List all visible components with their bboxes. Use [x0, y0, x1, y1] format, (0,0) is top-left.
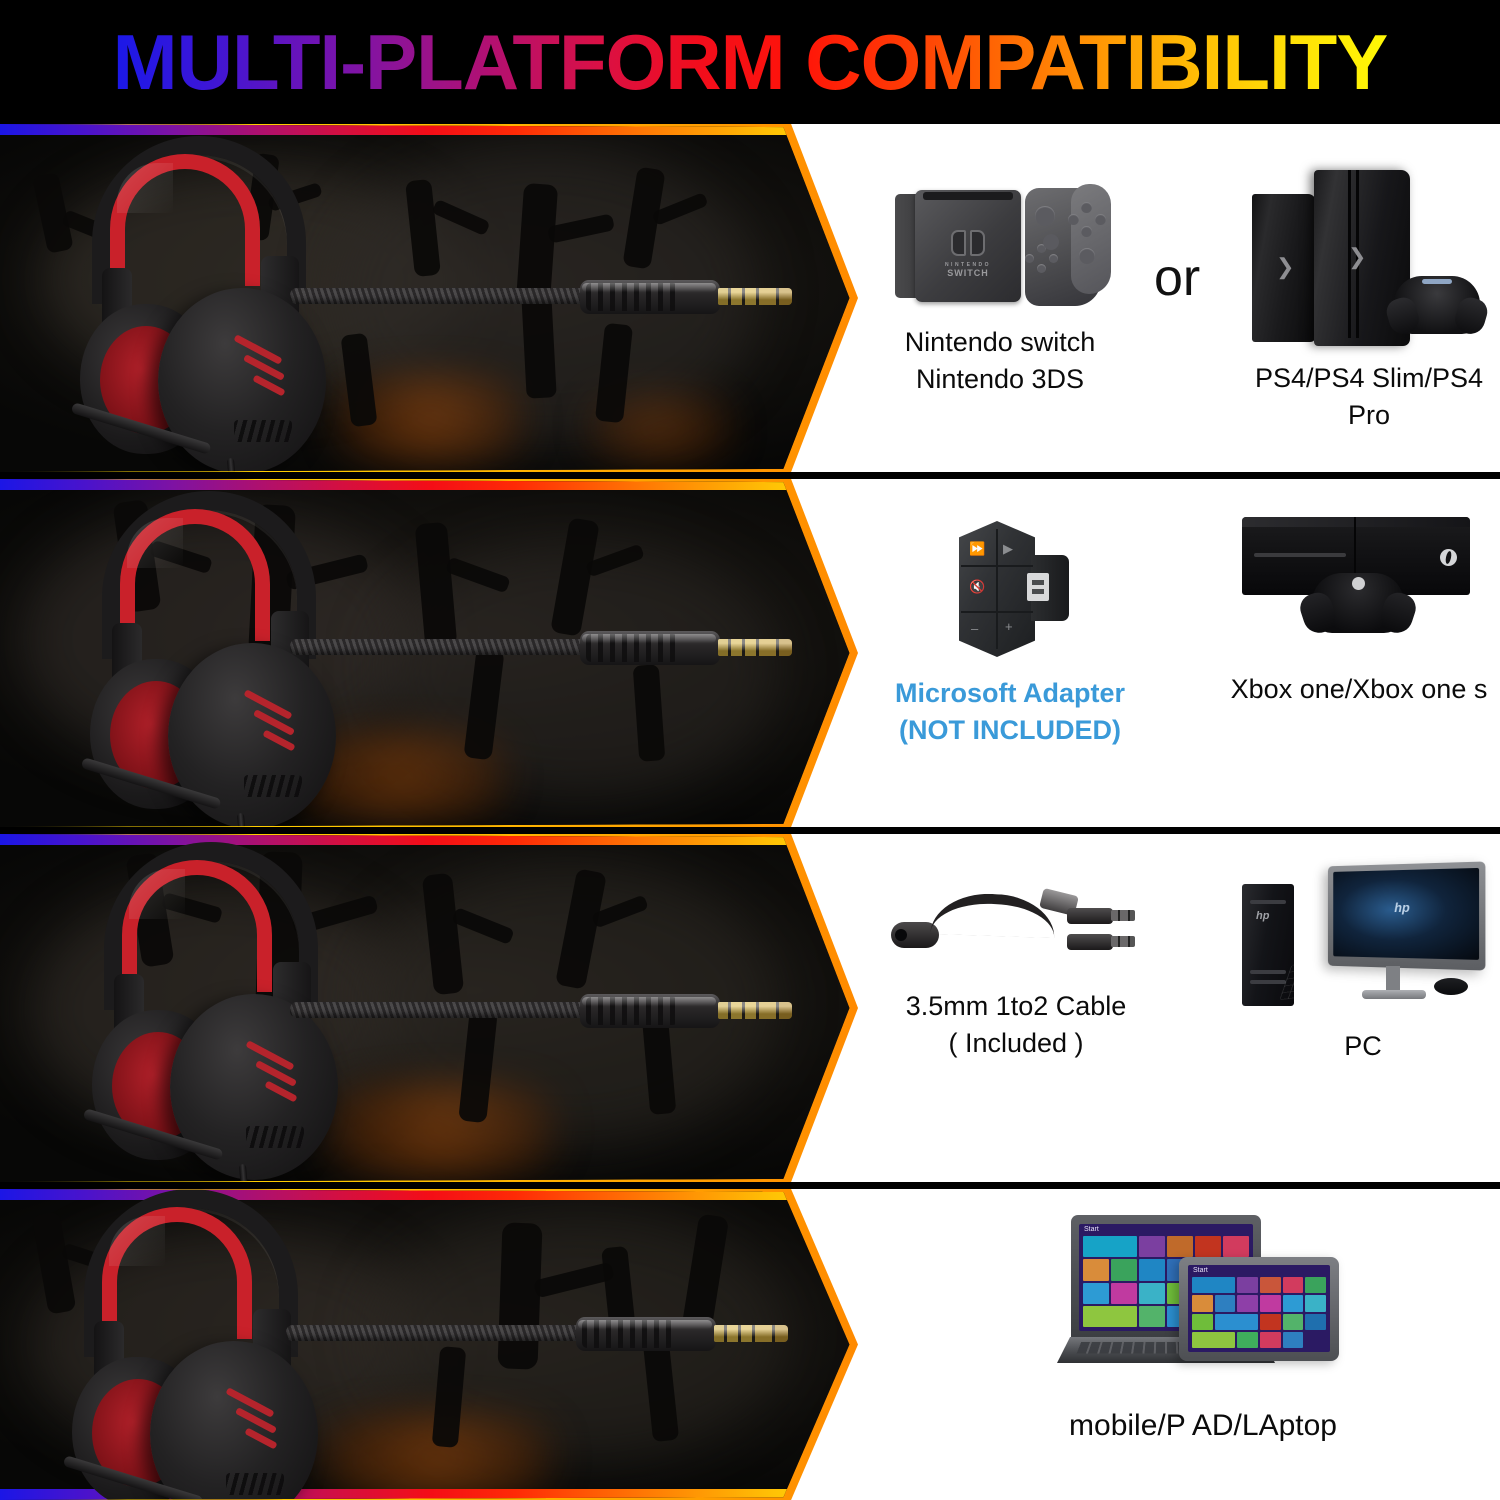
title-banner: MULTI-PLATFORM COMPATIBILITY	[0, 0, 1500, 124]
xbox-one-icon	[1234, 501, 1484, 651]
pc-desktop-icon: hp	[1238, 850, 1488, 1016]
page-title: MULTI-PLATFORM COMPATIBILITY	[113, 17, 1388, 108]
device-nintendo-switch: NINTENDOSWITCH Nintendo switch Nintendo	[878, 186, 1122, 399]
hero-arrow-panel	[0, 1189, 858, 1500]
compatibility-row-xbox: ⏩ ▶ 🔇 – + Microsoft Adapter (NOT INCLUDE…	[0, 479, 1500, 827]
device-pc: hp PC	[1228, 850, 1498, 1065]
device-microsoft-adapter: ⏩ ▶ 🔇 – + Microsoft Adapter (NOT INCLUDE…	[878, 515, 1142, 750]
connector-or-label: or	[1154, 248, 1200, 308]
hero-arrow-panel	[0, 479, 858, 827]
device-label: Xbox one/Xbox one s	[1218, 671, 1500, 708]
device-list-row-3: 3.5mm 1to2 Cable ( Included ) hp PC	[858, 834, 1500, 1182]
row-divider	[0, 827, 1500, 834]
device-xbox-one: Xbox one/Xbox one s	[1218, 501, 1500, 708]
device-mobile-pad-laptop: Start	[988, 1209, 1418, 1446]
infographic-page: MULTI-PLATFORM COMPATIBILITY	[0, 0, 1500, 1500]
device-label: PC	[1228, 1028, 1498, 1065]
hero-arrow-panel	[0, 124, 858, 472]
device-list-row-1: NINTENDOSWITCH Nintendo switch Nintendo	[858, 124, 1500, 472]
device-splitter-cable: 3.5mm 1to2 Cable ( Included )	[882, 878, 1150, 1063]
device-list-row-4: Start	[858, 1189, 1500, 1500]
switch-wordmark: SWITCH	[947, 268, 989, 278]
microsoft-adapter-icon: ⏩ ▶ 🔇 – +	[935, 515, 1085, 665]
device-list-row-2: ⏩ ▶ 🔇 – + Microsoft Adapter (NOT INCLUDE…	[858, 479, 1500, 827]
device-label: Microsoft Adapter (NOT INCLUDED)	[878, 675, 1142, 750]
rainbow-divider-strip	[0, 479, 858, 490]
device-label: 3.5mm 1to2 Cable ( Included )	[882, 988, 1150, 1063]
device-label: mobile/P AD/LAptop	[988, 1405, 1418, 1446]
compatibility-row-mobile: Start	[0, 1189, 1500, 1500]
rainbow-divider-strip	[0, 124, 858, 135]
compatibility-row-pc: 3.5mm 1to2 Cable ( Included ) hp PC	[0, 834, 1500, 1182]
hero-arrow-panel	[0, 834, 858, 1182]
compatibility-row-nintendo-ps4: NINTENDOSWITCH Nintendo switch Nintendo	[0, 124, 1500, 472]
laptop-tablet-icon: Start	[1053, 1209, 1353, 1379]
rainbow-divider-strip	[0, 1189, 858, 1200]
row-divider	[0, 1182, 1500, 1189]
ps4-console-icon: ❯ ❯	[1244, 166, 1494, 352]
device-ps4: ❯ ❯ PS4/PS4 Slim/PS4 Pro	[1238, 166, 1500, 435]
nintendo-switch-icon: NINTENDOSWITCH	[885, 186, 1115, 310]
device-label: PS4/PS4 Slim/PS4 Pro	[1238, 360, 1500, 435]
device-label: Nintendo switch Nintendo 3DS	[878, 324, 1122, 399]
splitter-cable-icon	[891, 878, 1141, 974]
rainbow-divider-strip	[0, 834, 858, 845]
row-divider	[0, 472, 1500, 479]
